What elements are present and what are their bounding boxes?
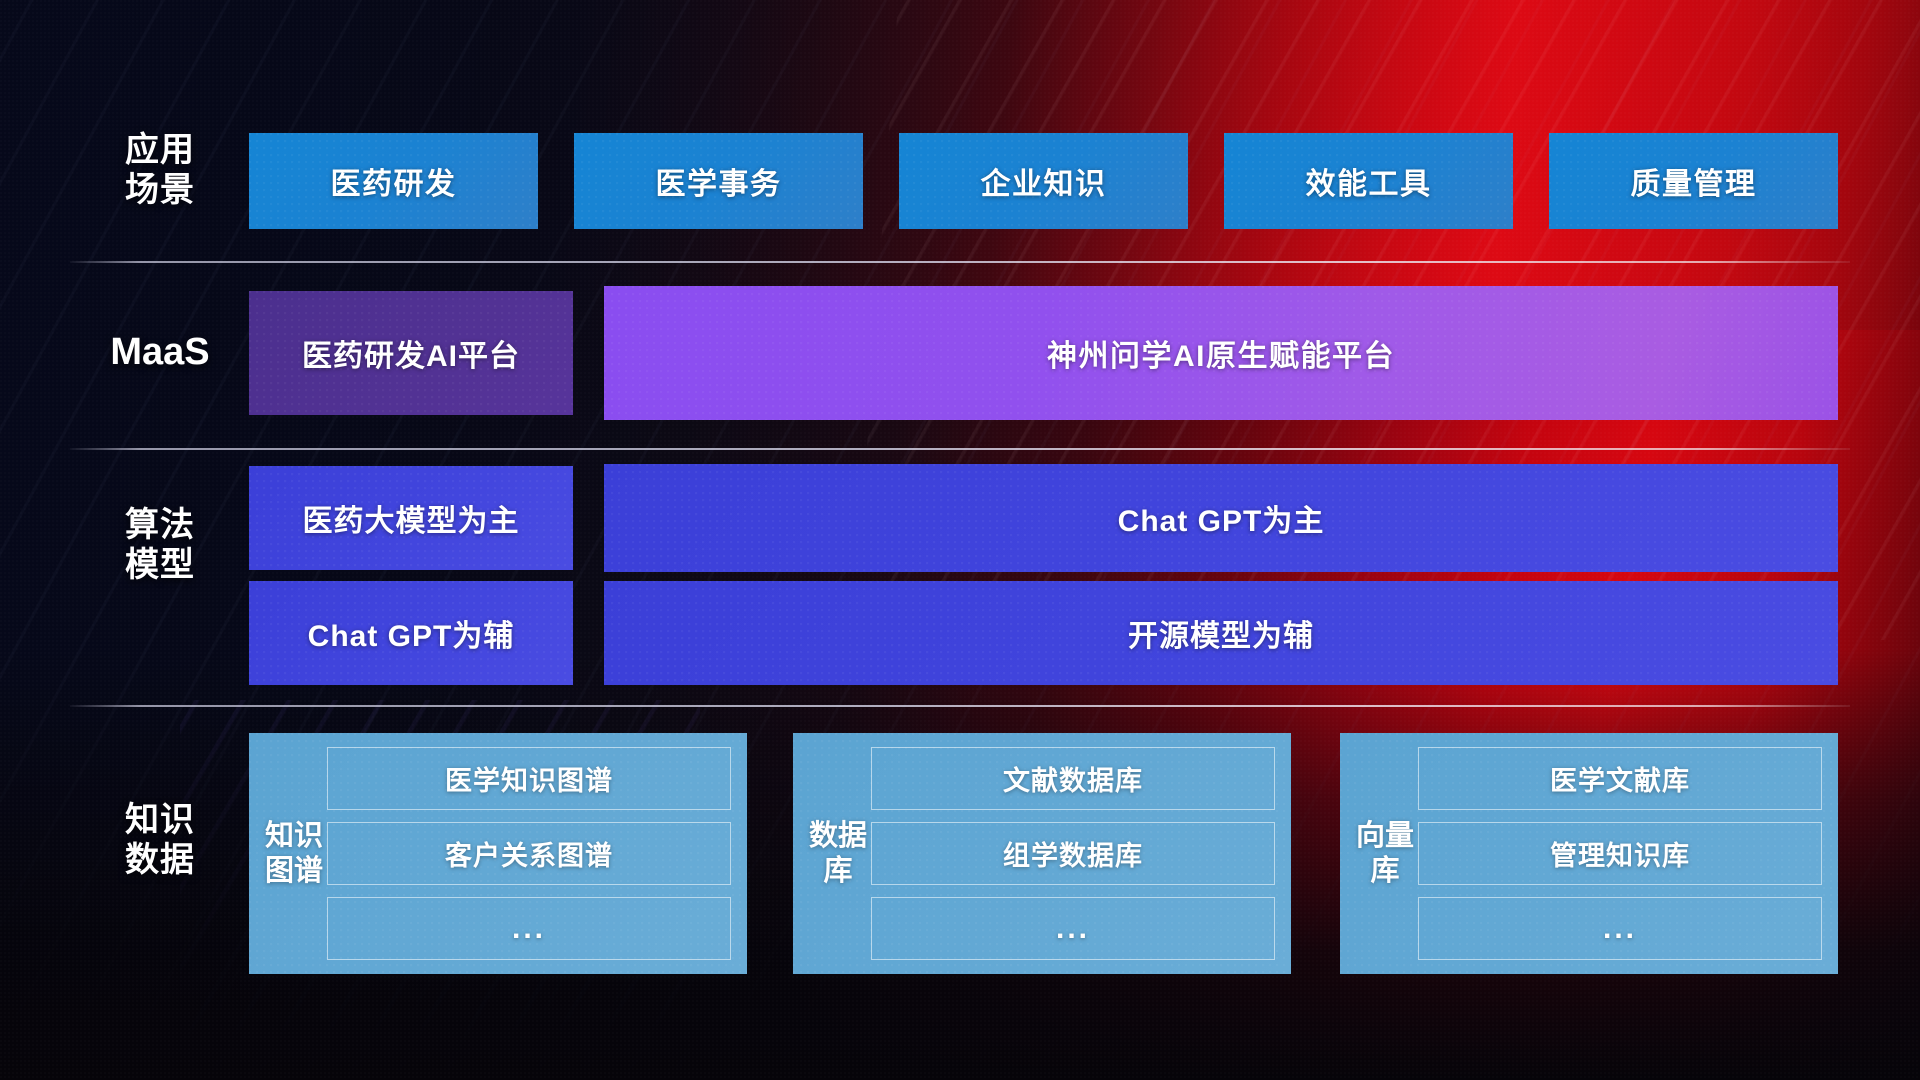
maas-box-medicine-ai-platform[interactable]: 医药研发AI平台 <box>249 291 573 415</box>
knowledge-panel-graph[interactable]: 知识图谱 医学知识图谱 客户关系图谱 ... <box>249 733 747 974</box>
knowledge-panel-vector-items: 医学文献库 管理知识库 ... <box>1418 747 1822 960</box>
divider-1 <box>70 261 1850 263</box>
knowledge-panel-graph-title: 知识图谱 <box>261 819 327 887</box>
knowledge-item-medical-literature[interactable]: 医学文献库 <box>1418 747 1822 810</box>
knowledge-item-literature-db[interactable]: 文献数据库 <box>871 747 1275 810</box>
algo-box-chatgpt-secondary[interactable]: Chat GPT为辅 <box>249 581 573 685</box>
knowledge-item-management-knowledge[interactable]: 管理知识库 <box>1418 822 1822 885</box>
app-box-efficiency-tools[interactable]: 效能工具 <box>1224 133 1513 229</box>
knowledge-item-database-more[interactable]: ... <box>871 897 1275 960</box>
row-label-maas: MaaS <box>70 330 250 375</box>
knowledge-panel-graph-items: 医学知识图谱 客户关系图谱 ... <box>327 747 731 960</box>
knowledge-item-graph-more[interactable]: ... <box>327 897 731 960</box>
knowledge-panel-database-title: 数据库 <box>805 819 871 887</box>
architecture-diagram: 应用 场景 医药研发 医学事务 企业知识 效能工具 质量管理 MaaS 医药研发… <box>0 0 1920 1080</box>
app-box-quality-management[interactable]: 质量管理 <box>1549 133 1838 229</box>
knowledge-item-customer-graph[interactable]: 客户关系图谱 <box>327 822 731 885</box>
algo-box-chatgpt-primary[interactable]: Chat GPT为主 <box>604 464 1838 572</box>
algo-box-opensource-secondary[interactable]: 开源模型为辅 <box>604 581 1838 685</box>
knowledge-panel-database[interactable]: 数据库 文献数据库 组学数据库 ... <box>793 733 1291 974</box>
algo-box-medicine-llm-primary[interactable]: 医药大模型为主 <box>249 466 573 570</box>
divider-2 <box>70 448 1850 450</box>
app-box-medicine-rd[interactable]: 医药研发 <box>249 133 538 229</box>
divider-3 <box>70 705 1850 707</box>
knowledge-item-vector-more[interactable]: ... <box>1418 897 1822 960</box>
knowledge-panel-database-items: 文献数据库 组学数据库 ... <box>871 747 1275 960</box>
knowledge-panel-vector-title: 向量库 <box>1352 819 1418 887</box>
maas-box-shenzhou-wenxue-platform[interactable]: 神州问学AI原生赋能平台 <box>604 286 1838 420</box>
knowledge-item-medical-graph[interactable]: 医学知识图谱 <box>327 747 731 810</box>
row-label-algorithm-model: 算法 模型 <box>70 505 250 585</box>
app-box-enterprise-knowledge[interactable]: 企业知识 <box>899 133 1188 229</box>
row-label-application-scenario: 应用 场景 <box>70 130 250 210</box>
row-label-knowledge-data: 知识 数据 <box>70 800 250 880</box>
slide-canvas: 应用 场景 医药研发 医学事务 企业知识 效能工具 质量管理 MaaS 医药研发… <box>0 0 1920 1080</box>
knowledge-panel-vector[interactable]: 向量库 医学文献库 管理知识库 ... <box>1340 733 1838 974</box>
app-box-medical-affairs[interactable]: 医学事务 <box>574 133 863 229</box>
knowledge-item-omics-db[interactable]: 组学数据库 <box>871 822 1275 885</box>
